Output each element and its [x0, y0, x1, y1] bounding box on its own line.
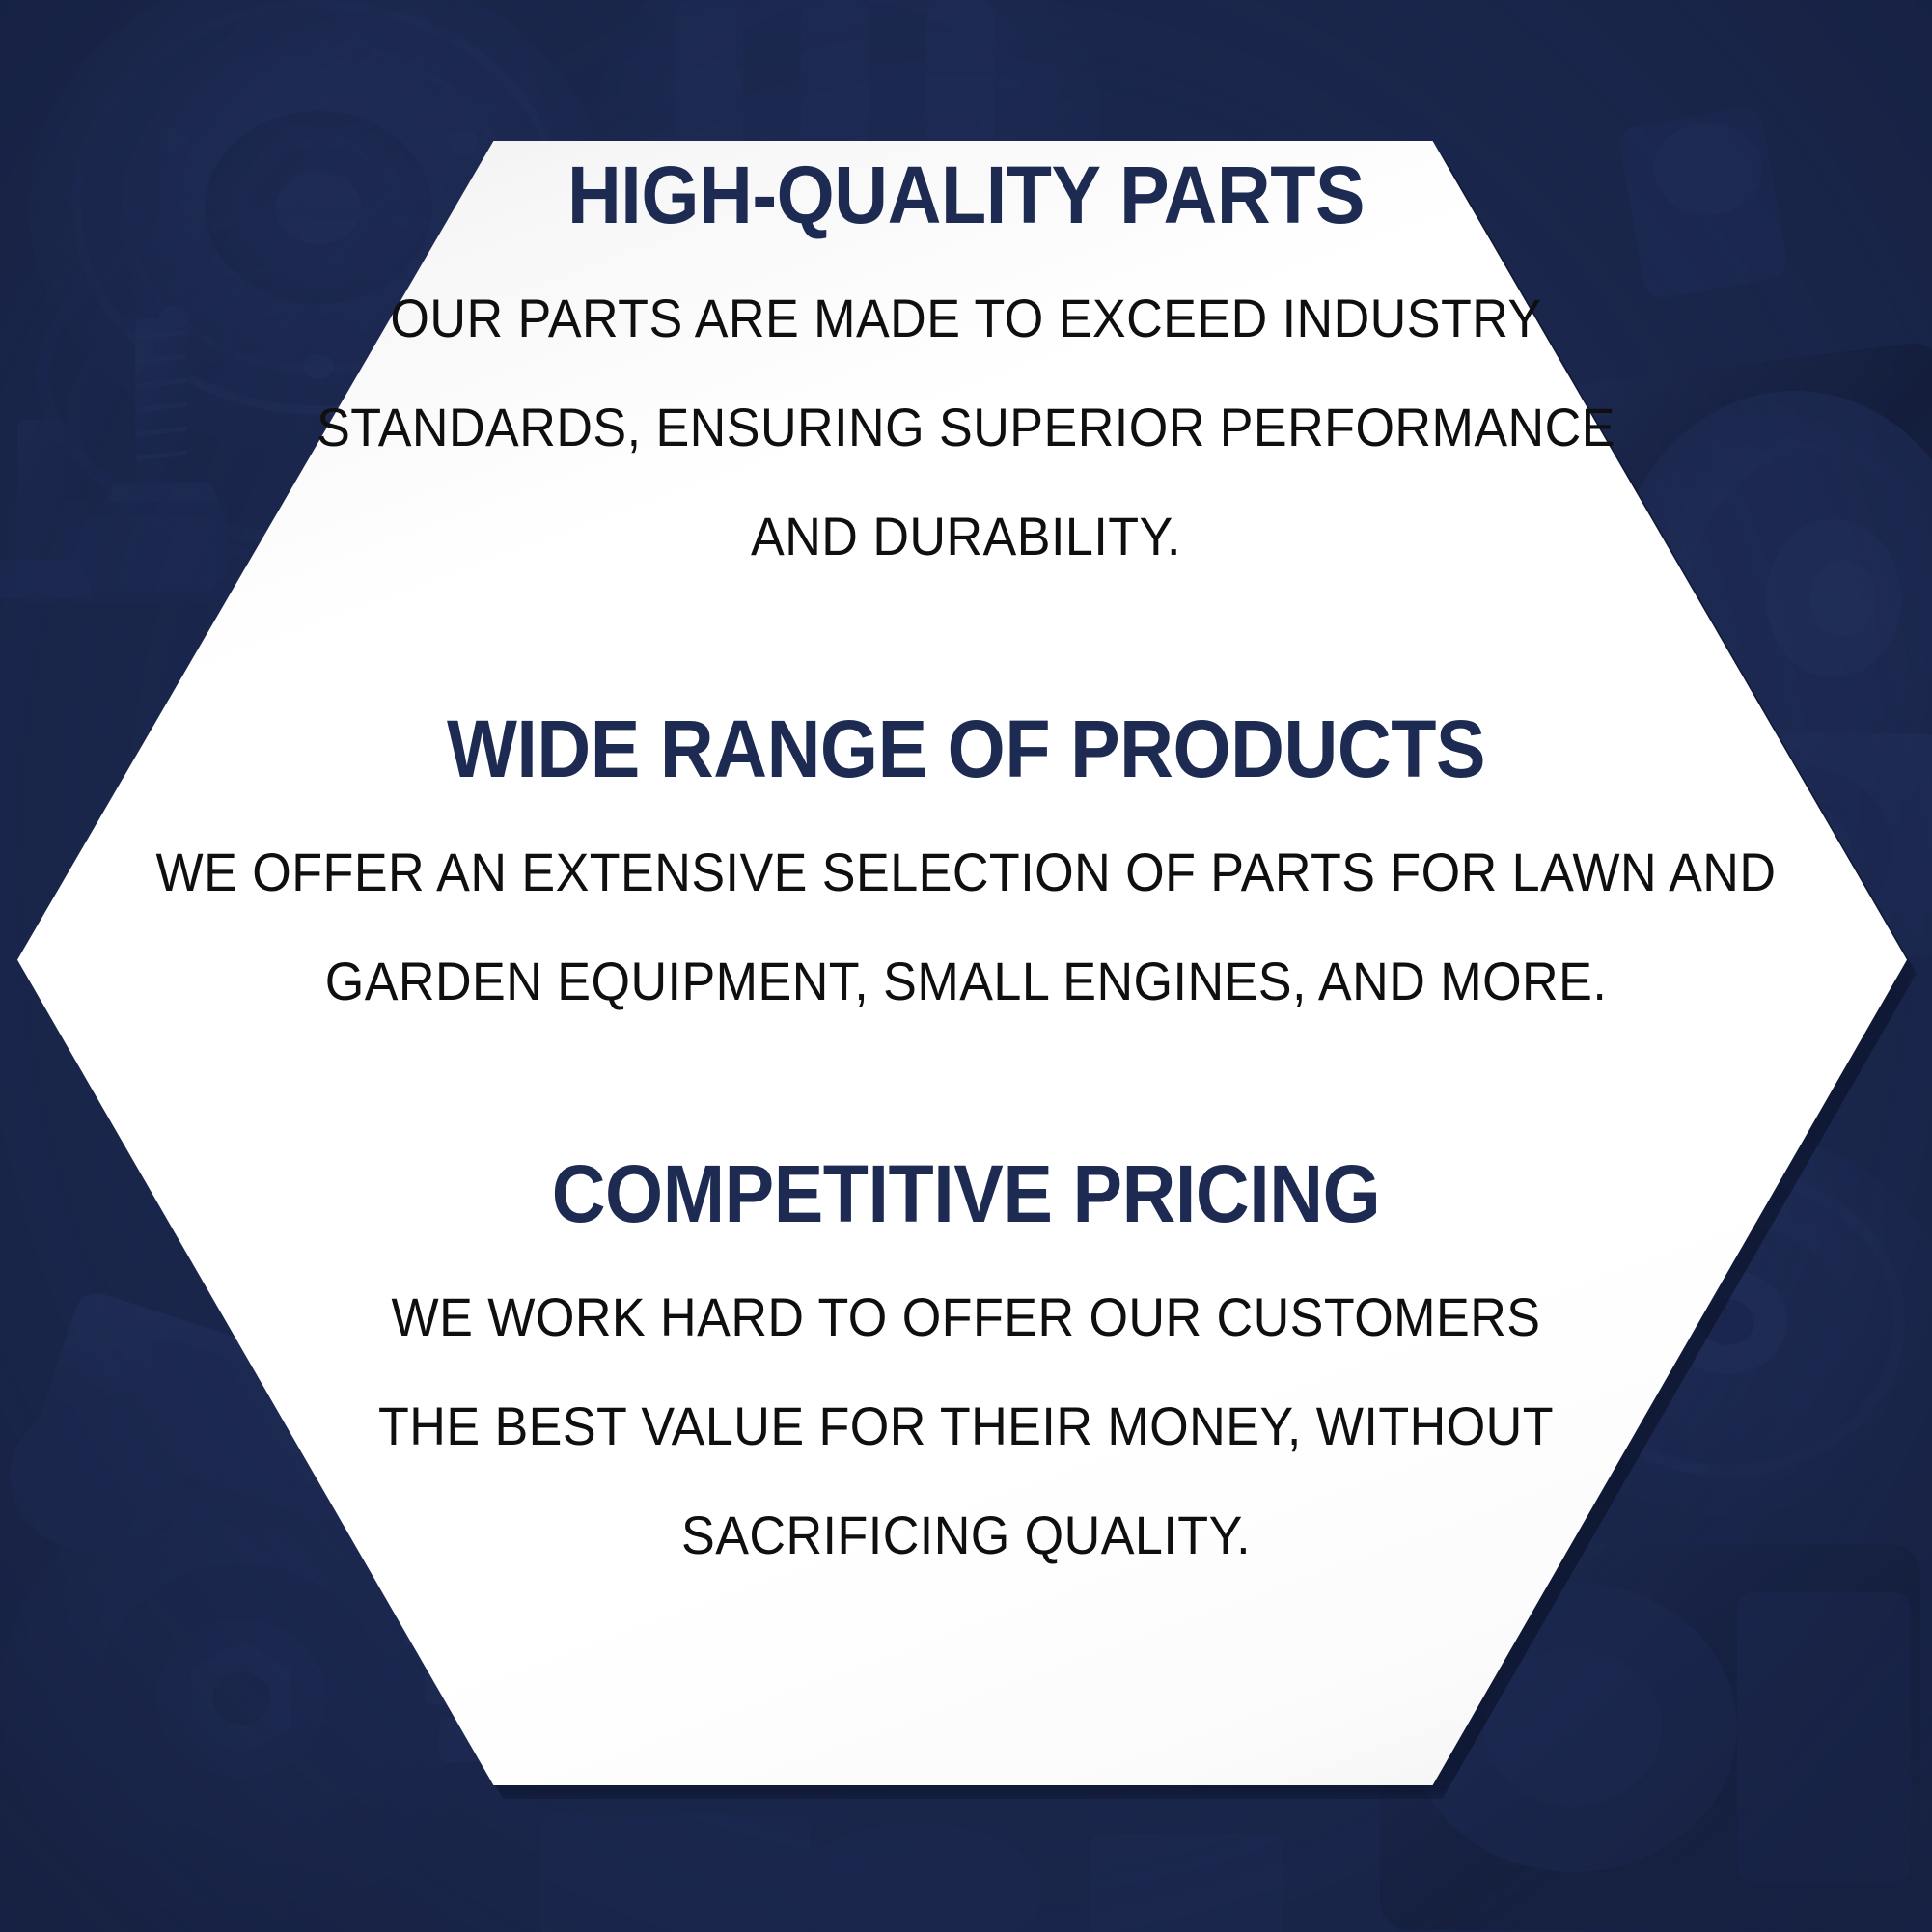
section-body-line: WE WORK HARD TO OFFER OUR CUSTOMERS [68, 1290, 1864, 1344]
section-heading-competitive-pricing: COMPETITIVE PRICING [77, 1153, 1855, 1234]
section-body-line: GARDEN EQUIPMENT, SMALL ENGINES, AND MOR… [68, 954, 1864, 1008]
promo-graphic: HIGH-QUALITY PARTS OUR PARTS ARE MADE TO… [0, 0, 1932, 1932]
section-body-line: SACRIFICING QUALITY. [68, 1508, 1864, 1562]
section-body-line: STANDARDS, ENSURING SUPERIOR PERFORMANCE [68, 400, 1864, 455]
section-body-line: OUR PARTS ARE MADE TO EXCEED INDUSTRY [68, 291, 1864, 345]
section-body-line: AND DURABILITY. [68, 510, 1864, 564]
feature-section-high-quality-parts: HIGH-QUALITY PARTS OUR PARTS ARE MADE TO… [0, 154, 1932, 564]
feature-section-wide-range-of-products: WIDE RANGE OF PRODUCTS WE OFFER AN EXTEN… [0, 708, 1932, 1008]
section-body-line: THE BEST VALUE FOR THEIR MONEY, WITHOUT [68, 1399, 1864, 1453]
section-body-line: WE OFFER AN EXTENSIVE SELECTION OF PARTS… [68, 845, 1864, 899]
feature-section-competitive-pricing: COMPETITIVE PRICING WE WORK HARD TO OFFE… [0, 1153, 1932, 1562]
section-heading-high-quality-parts: HIGH-QUALITY PARTS [77, 154, 1855, 235]
feature-list: HIGH-QUALITY PARTS OUR PARTS ARE MADE TO… [0, 0, 1932, 1932]
section-heading-wide-range-of-products: WIDE RANGE OF PRODUCTS [77, 708, 1855, 789]
